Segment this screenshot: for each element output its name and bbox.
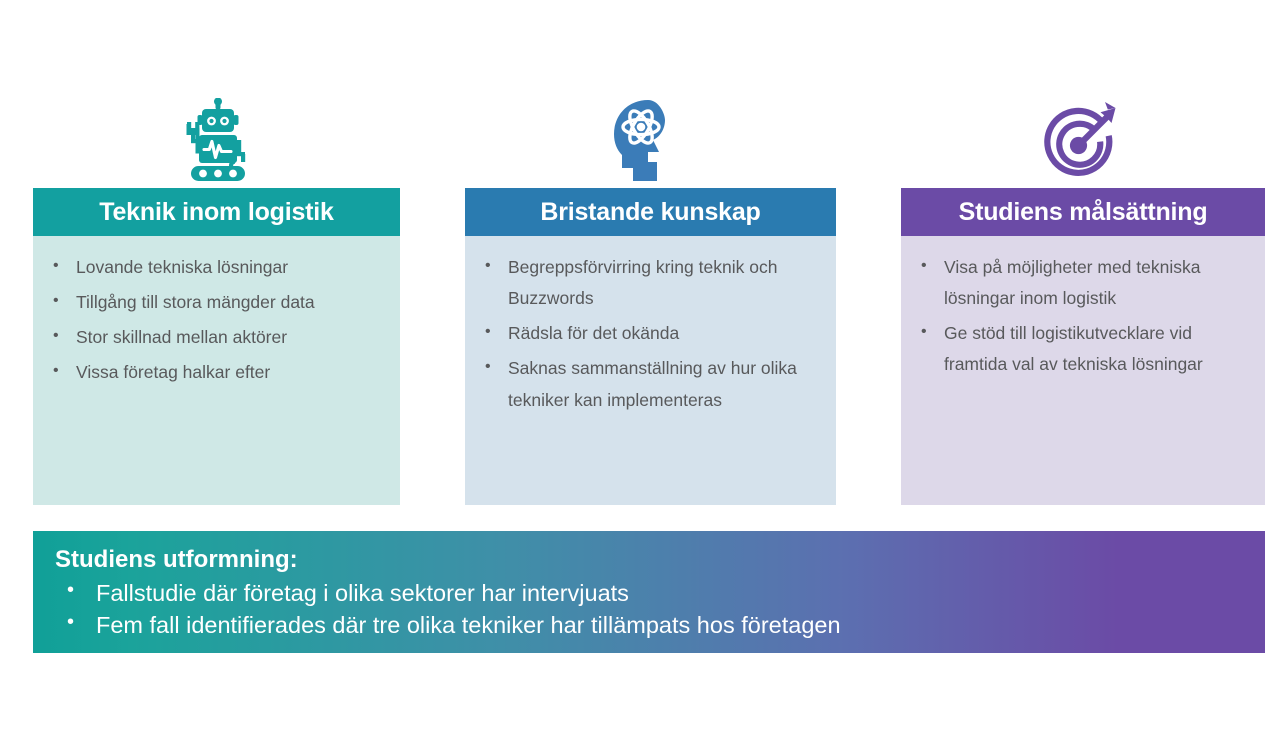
study-design-banner: Studiens utformning: Fallstudie där före… <box>33 531 1265 653</box>
card-body-malsattning: Visa på möjligheter med tekniska lösning… <box>901 236 1265 505</box>
bullet-list-teknik: Lovande tekniska lösningar Tillgång till… <box>43 252 386 389</box>
card-header-malsattning: Studiens målsättning <box>901 188 1265 236</box>
columns-row: Teknik inom logistik Lovande tekniska lö… <box>33 80 1265 505</box>
list-item: Rädsla för det okända <box>475 318 822 349</box>
card-title: Teknik inom logistik <box>99 200 333 225</box>
bullet-list-malsattning: Visa på möjligheter med tekniska lösning… <box>911 252 1251 381</box>
list-item: Saknas sammanställning av hur olika tekn… <box>475 353 822 415</box>
card-header-teknik: Teknik inom logistik <box>33 188 400 236</box>
list-item: Stor skillnad mellan aktörer <box>43 322 386 353</box>
list-item: Vissa företag halkar efter <box>43 357 386 388</box>
robot-icon <box>173 98 261 184</box>
list-item: Visa på möjligheter med tekniska lösning… <box>911 252 1251 314</box>
card-body-bristande: Begreppsförvirring kring teknik och Buzz… <box>465 236 836 505</box>
list-item: Tillgång till stora mängder data <box>43 287 386 318</box>
card-body-teknik: Lovande tekniska lösningar Tillgång till… <box>33 236 400 505</box>
robot-icon-wrap <box>33 80 400 188</box>
column-studiens-malsattning: Studiens målsättning Visa på möjligheter… <box>901 80 1265 505</box>
card-title: Studiens målsättning <box>959 200 1208 225</box>
banner-title: Studiens utformning: <box>55 545 1265 576</box>
card-header-bristande: Bristande kunskap <box>465 188 836 236</box>
slide-canvas: Teknik inom logistik Lovande tekniska lö… <box>0 0 1280 744</box>
target-arrow-icon <box>1039 98 1127 184</box>
column-teknik-inom-logistik: Teknik inom logistik Lovande tekniska lö… <box>33 80 400 505</box>
column-bristande-kunskap: Bristande kunskap Begreppsförvirring kri… <box>465 80 836 505</box>
head-atom-icon-wrap <box>465 80 836 188</box>
bullet-list-bristande: Begreppsförvirring kring teknik och Buzz… <box>475 252 822 416</box>
list-item: Fallstudie där företag i olika sektorer … <box>55 577 1265 609</box>
target-arrow-icon-wrap <box>901 80 1265 188</box>
list-item: Begreppsförvirring kring teknik och Buzz… <box>475 252 822 314</box>
head-atom-icon <box>608 98 694 184</box>
card-title: Bristande kunskap <box>540 200 760 225</box>
list-item: Lovande tekniska lösningar <box>43 252 386 283</box>
banner-bullet-list: Fallstudie där företag i olika sektorer … <box>55 577 1265 641</box>
list-item: Ge stöd till logistikutvecklare vid fram… <box>911 318 1251 380</box>
list-item: Fem fall identifierades där tre olika te… <box>55 609 1265 641</box>
